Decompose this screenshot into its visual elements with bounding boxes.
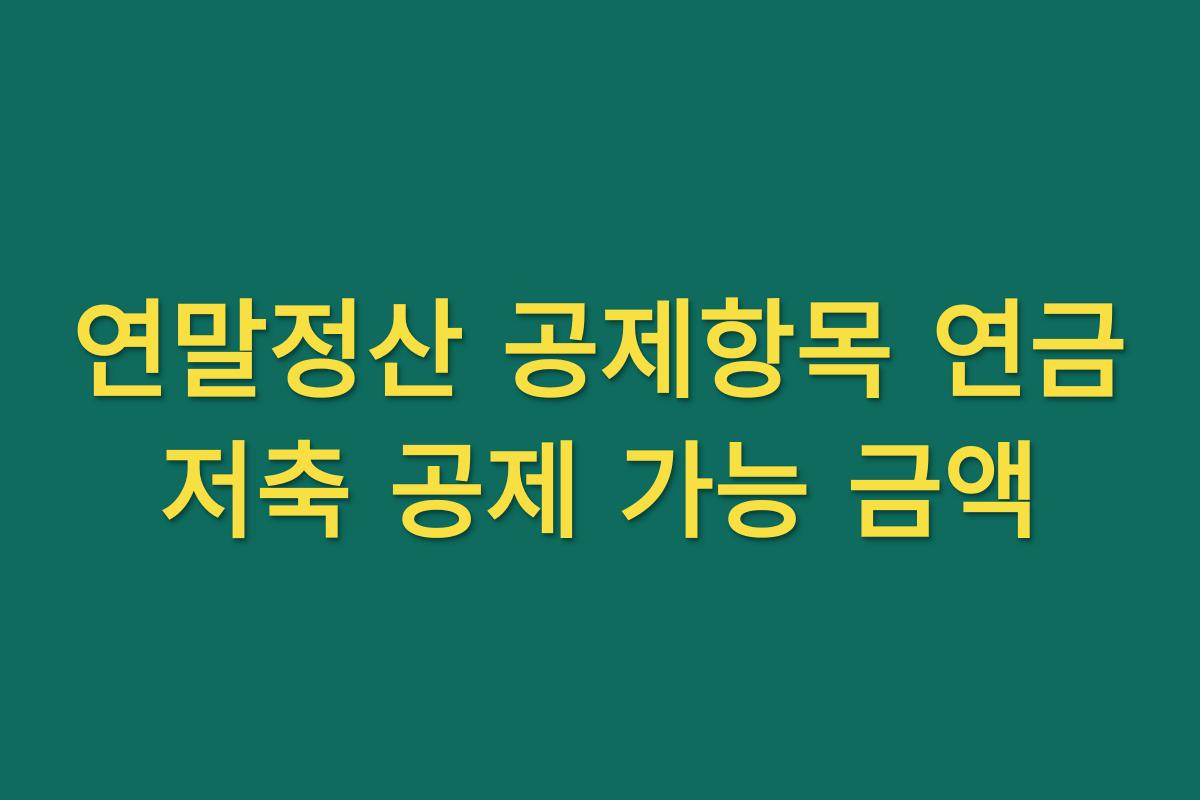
- title-line-1: 연말정산 공제항목 연금: [40, 282, 1160, 422]
- thumbnail-banner: 연말정산 공제항목 연금 저축 공제 가능 금액: [0, 0, 1200, 800]
- title-line-2: 저축 공제 가능 금액: [40, 422, 1160, 562]
- title-block: 연말정산 공제항목 연금 저축 공제 가능 금액: [0, 282, 1200, 562]
